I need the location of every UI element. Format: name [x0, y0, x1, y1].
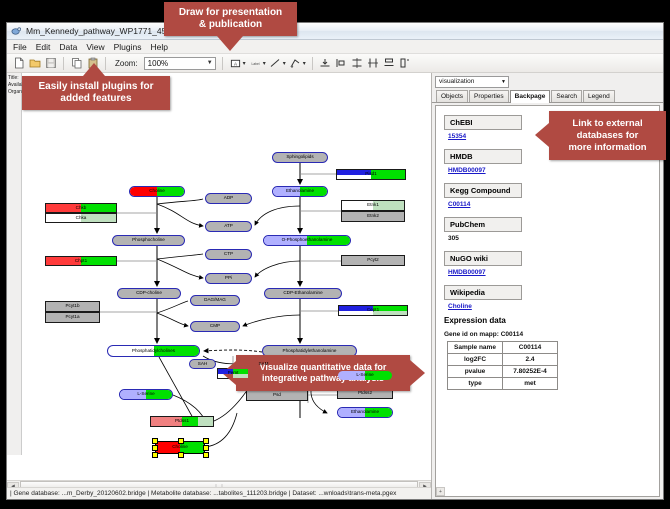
tab-backpage[interactable]: Backpage [510, 90, 551, 103]
datanode-tool[interactable]: A ▾ [229, 57, 246, 70]
node-etnk1[interactable]: Etnk1 [341, 200, 405, 211]
db-link-hmdb[interactable]: HMDB00097 [448, 167, 659, 174]
node-phosphocholine[interactable]: Phosphocholine [112, 235, 185, 246]
node-etnk2[interactable]: Etnk2 [341, 211, 405, 222]
node-label: Ptdss1 [175, 419, 189, 424]
tab-properties[interactable]: Properties [469, 90, 509, 102]
node-label: O-Phosphoethanolamine [282, 238, 333, 243]
interaction-tool[interactable]: ▾ [289, 57, 306, 70]
node-label: CTP [224, 252, 233, 257]
stack-icon[interactable] [383, 57, 396, 70]
links-callout-arrow-icon [535, 123, 549, 147]
node-label: Chkb [76, 206, 87, 211]
menu-item-edit[interactable]: Edit [36, 42, 51, 52]
db-name-nugo: NuGO wiki [444, 251, 522, 266]
menubar: File Edit Data View Plugins Help [7, 40, 663, 54]
node-label: Ethanolamine [286, 189, 314, 194]
menu-item-view[interactable]: View [86, 42, 104, 52]
node-label: Pcyt1a [65, 315, 79, 320]
node-choline-top[interactable]: Choline [129, 186, 185, 197]
tab-objects[interactable]: Objects [436, 90, 468, 102]
app-icon [11, 26, 22, 37]
node-label: SAM [259, 362, 269, 367]
node-label: Chka [76, 216, 87, 221]
selection-handle[interactable] [203, 438, 209, 444]
selection-handle[interactable] [178, 452, 184, 458]
draw-callout-line2: & publication [199, 19, 262, 31]
node-label: Phosphatidylethanolamine [283, 349, 337, 354]
db-name-pubchem: PubChem [444, 217, 522, 232]
table-row: log2FC 2.4 [448, 354, 558, 366]
plugins-callout-line1: Easily install plugins for [38, 81, 153, 93]
node-label: DAG/MAG [204, 298, 226, 303]
open-folder-icon[interactable] [28, 57, 41, 70]
node-cdp-ethanolamine[interactable]: CDP-Ethanolamine [264, 288, 342, 299]
db-name-kegg: Kegg Compound [444, 183, 522, 198]
node-psd[interactable]: Psd [246, 390, 308, 401]
table-cell-value: met [503, 378, 558, 390]
node-adp[interactable]: ADP [205, 193, 252, 204]
db-name-hmdb: HMDB [444, 149, 522, 164]
chevron-down-icon: ▼ [501, 79, 506, 85]
node-chka[interactable]: Chka [45, 213, 117, 223]
node-phosphatidylcholines[interactable]: Phosphatidylcholines [107, 345, 200, 357]
label-icon[interactable]: Label [249, 57, 262, 70]
line-tool[interactable]: ▾ [269, 57, 286, 70]
node-label: CMP [210, 324, 220, 329]
fill-right-pale [198, 417, 214, 426]
pathway-canvas[interactable]: Title: Availability: Organism: [7, 73, 431, 477]
label-tool[interactable]: Label ▾ [249, 57, 266, 70]
links-callout-line2: databases for [577, 130, 639, 142]
table-row: type met [448, 378, 558, 390]
line-icon[interactable] [269, 57, 282, 70]
plugins-callout-arrow-icon [83, 63, 105, 76]
window-titlebar: Mm_Kennedy_pathway_WP1771_45176.gpml [7, 23, 663, 40]
toolbar-separator [105, 57, 106, 70]
table-cell-key: pvalue [448, 366, 503, 378]
toolbar-separator [312, 57, 313, 70]
menu-item-plugins[interactable]: Plugins [114, 42, 142, 52]
draw-callout-arrow-icon [217, 36, 243, 51]
node-label: L-Serine [356, 373, 373, 378]
visualization-row: visualization ▼ [432, 73, 663, 90]
align-top-icon[interactable] [319, 57, 332, 70]
table-cell-key: type [448, 378, 503, 390]
gene-id-label: Gene id on mapp: C00114 [444, 331, 659, 338]
order-icon[interactable] [399, 57, 412, 70]
node-l-serine-right[interactable]: L-Serine [337, 370, 393, 381]
datanode-icon[interactable]: A [229, 57, 242, 70]
align-left-icon[interactable] [335, 57, 348, 70]
table-cell-value: 2.4 [503, 354, 558, 366]
node-label: Sphingolipids [286, 155, 313, 160]
node-ethanolamine-top[interactable]: Ethanolamine [272, 186, 328, 197]
db-block-wikipedia: Wikipedia Choline [444, 282, 659, 310]
expression-data-title: Expression data [444, 316, 659, 325]
node-atp[interactable]: ATP [205, 221, 252, 232]
db-link-kegg[interactable]: C00114 [448, 201, 659, 208]
selection-handle[interactable] [178, 438, 184, 444]
node-label: PPi [225, 276, 232, 281]
node-label: Etnk2 [367, 214, 379, 219]
node-label: Pcyt1b [65, 304, 79, 309]
table-cell-key: Sample name [448, 342, 503, 354]
statusbar: | Gene database: ...m_Derby_20120602.bri… [7, 487, 431, 499]
node-label: ATP [224, 224, 233, 229]
node-pcyt2[interactable]: Pcyt2 [341, 255, 405, 266]
node-label: Phosphatidylcholines [132, 349, 175, 354]
table-row: Sample name C00114 [448, 342, 558, 354]
toolbar: Zoom: 100% ▼ A ▾ Label ▾ [7, 54, 663, 73]
toolbar-separator [63, 57, 64, 70]
node-label: Etnk1 [367, 203, 379, 208]
node-label: L-Serine [137, 392, 154, 397]
node-label: Pisd1 [365, 172, 377, 177]
sidepanel-tabs: Objects Properties Backpage Search Legen… [432, 90, 663, 103]
distribute-horizontal-icon[interactable] [367, 57, 380, 70]
node-label: CDP-Ethanolamine [283, 291, 322, 296]
node-label: Phosphocholine [132, 238, 165, 243]
node-label: Ethanolamine [351, 410, 379, 415]
db-block-kegg: Kegg Compound C00114 [444, 180, 659, 208]
db-block-nugo: NuGO wiki HMDB00097 [444, 248, 659, 276]
tab-search[interactable]: Search [551, 90, 582, 102]
node-chkb[interactable]: Chkb [45, 203, 117, 213]
node-label: Pcyt2 [367, 258, 379, 263]
db-value-pubchem: 305 [448, 235, 659, 242]
chevron-down-icon[interactable]: ▾ [303, 60, 306, 67]
visualization-combo[interactable]: visualization ▼ [435, 76, 509, 88]
node-o-phosphoethanolamine[interactable]: O-Phosphoethanolamine [263, 235, 351, 246]
node-sphingolipids[interactable]: Sphingolipids [272, 152, 328, 163]
node-dag-mag[interactable]: DAG/MAG [190, 295, 240, 306]
db-link-nugo[interactable]: HMDB00097 [448, 269, 659, 276]
node-label: Chpt1 [75, 259, 87, 264]
zoom-combo[interactable]: 100% ▼ [144, 57, 216, 70]
db-name-wikipedia: Wikipedia [444, 285, 522, 300]
node-label: SAH [198, 362, 207, 367]
chevron-down-icon: ▼ [207, 60, 213, 66]
visualization-value: visualization [439, 78, 474, 85]
node-sah[interactable]: SAH [189, 359, 216, 369]
node-pcyt1a[interactable]: Pcyt1a [45, 312, 100, 323]
statusbar-text: | Gene database: ...m_Derby_20120602.bri… [10, 490, 396, 497]
node-ppi[interactable]: PPi [205, 273, 252, 284]
zoom-label: Zoom: [115, 59, 138, 68]
node-label: CDP-choline [136, 291, 162, 296]
canvas-area: Title: Availability: Organism: [7, 73, 432, 499]
node-label: Ptdss2 [358, 391, 372, 396]
node-chpt1[interactable]: Chpt1 [45, 256, 117, 266]
selection-handle[interactable] [203, 445, 209, 451]
chevron-down-icon[interactable]: ▾ [263, 60, 266, 67]
node-ethanolamine-bottom[interactable]: Ethanolamine [337, 407, 393, 418]
chevron-down-icon[interactable]: ▾ [283, 60, 286, 67]
db-block-pubchem: PubChem 305 [444, 214, 659, 242]
selection-handle[interactable] [152, 438, 158, 444]
plugins-callout: Easily install plugins for added feature… [22, 76, 170, 110]
draw-callout-line1: Draw for presentation [179, 7, 282, 19]
node-label: Choline [149, 189, 165, 194]
visualize-callout-arrow-right-icon [410, 360, 425, 386]
links-callout: Link to external databases for more info… [549, 111, 666, 160]
backpage-content: ChEBI 15354 HMDB HMDB00097 Kegg Compound… [435, 105, 660, 497]
draw-callout: Draw for presentation & publication [164, 2, 297, 36]
chevron-down-icon[interactable]: ▾ [243, 60, 246, 67]
plugins-callout-line2: added features [60, 93, 131, 105]
node-pcyt1b[interactable]: Pcyt1b [45, 301, 100, 312]
panel-scroll-corner[interactable]: + [436, 487, 445, 496]
links-callout-line3: more information [568, 142, 646, 154]
db-name-chebi: ChEBI [444, 115, 522, 130]
node-ctp[interactable]: CTP [205, 249, 252, 260]
new-file-icon[interactable] [12, 57, 25, 70]
save-icon[interactable] [44, 57, 57, 70]
node-ptdss1[interactable]: Ptdss1 [150, 416, 214, 427]
table-cell-key: log2FC [448, 354, 503, 366]
expression-table: Sample name C00114 log2FC 2.4 pvalue 7.8… [447, 341, 558, 390]
node-label: ADP [224, 196, 233, 201]
interaction-icon[interactable] [289, 57, 302, 70]
distribute-vertical-icon[interactable] [351, 57, 364, 70]
selection-handle[interactable] [152, 452, 158, 458]
menu-item-help[interactable]: Help [151, 42, 168, 52]
screenshot-root: Mm_Kennedy_pathway_WP1771_45176.gpml Fil… [0, 0, 670, 509]
table-row: pvalue 7.80252E-4 [448, 366, 558, 378]
node-cdp-choline[interactable]: CDP-choline [117, 288, 181, 299]
node-cept1[interactable]: Cept1 [338, 305, 408, 316]
node-label: Choline [172, 445, 188, 450]
menu-item-file[interactable]: File [13, 42, 27, 52]
db-link-wikipedia[interactable]: Choline [448, 303, 659, 310]
table-cell-value: C00114 [503, 342, 558, 354]
node-pisd1[interactable]: Pisd1 [336, 169, 406, 180]
tab-legend[interactable]: Legend [583, 90, 615, 102]
node-label: Psd [273, 393, 281, 398]
selection-handle[interactable] [203, 452, 209, 458]
node-cmp[interactable]: CMP [190, 321, 240, 332]
svg-text:Label: Label [251, 61, 259, 65]
zoom-value: 100% [148, 59, 168, 68]
menu-item-data[interactable]: Data [59, 42, 77, 52]
table-cell-value: 7.80252E-4 [503, 366, 558, 378]
toolbar-separator [222, 57, 223, 70]
node-l-serine-left[interactable]: L-Serine [119, 389, 173, 400]
node-label: Cept1 [367, 308, 379, 313]
node-label: Pemt [228, 371, 239, 376]
links-callout-line1: Link to external [572, 118, 642, 130]
copy-icon[interactable] [70, 57, 83, 70]
selection-handle[interactable] [152, 445, 158, 451]
